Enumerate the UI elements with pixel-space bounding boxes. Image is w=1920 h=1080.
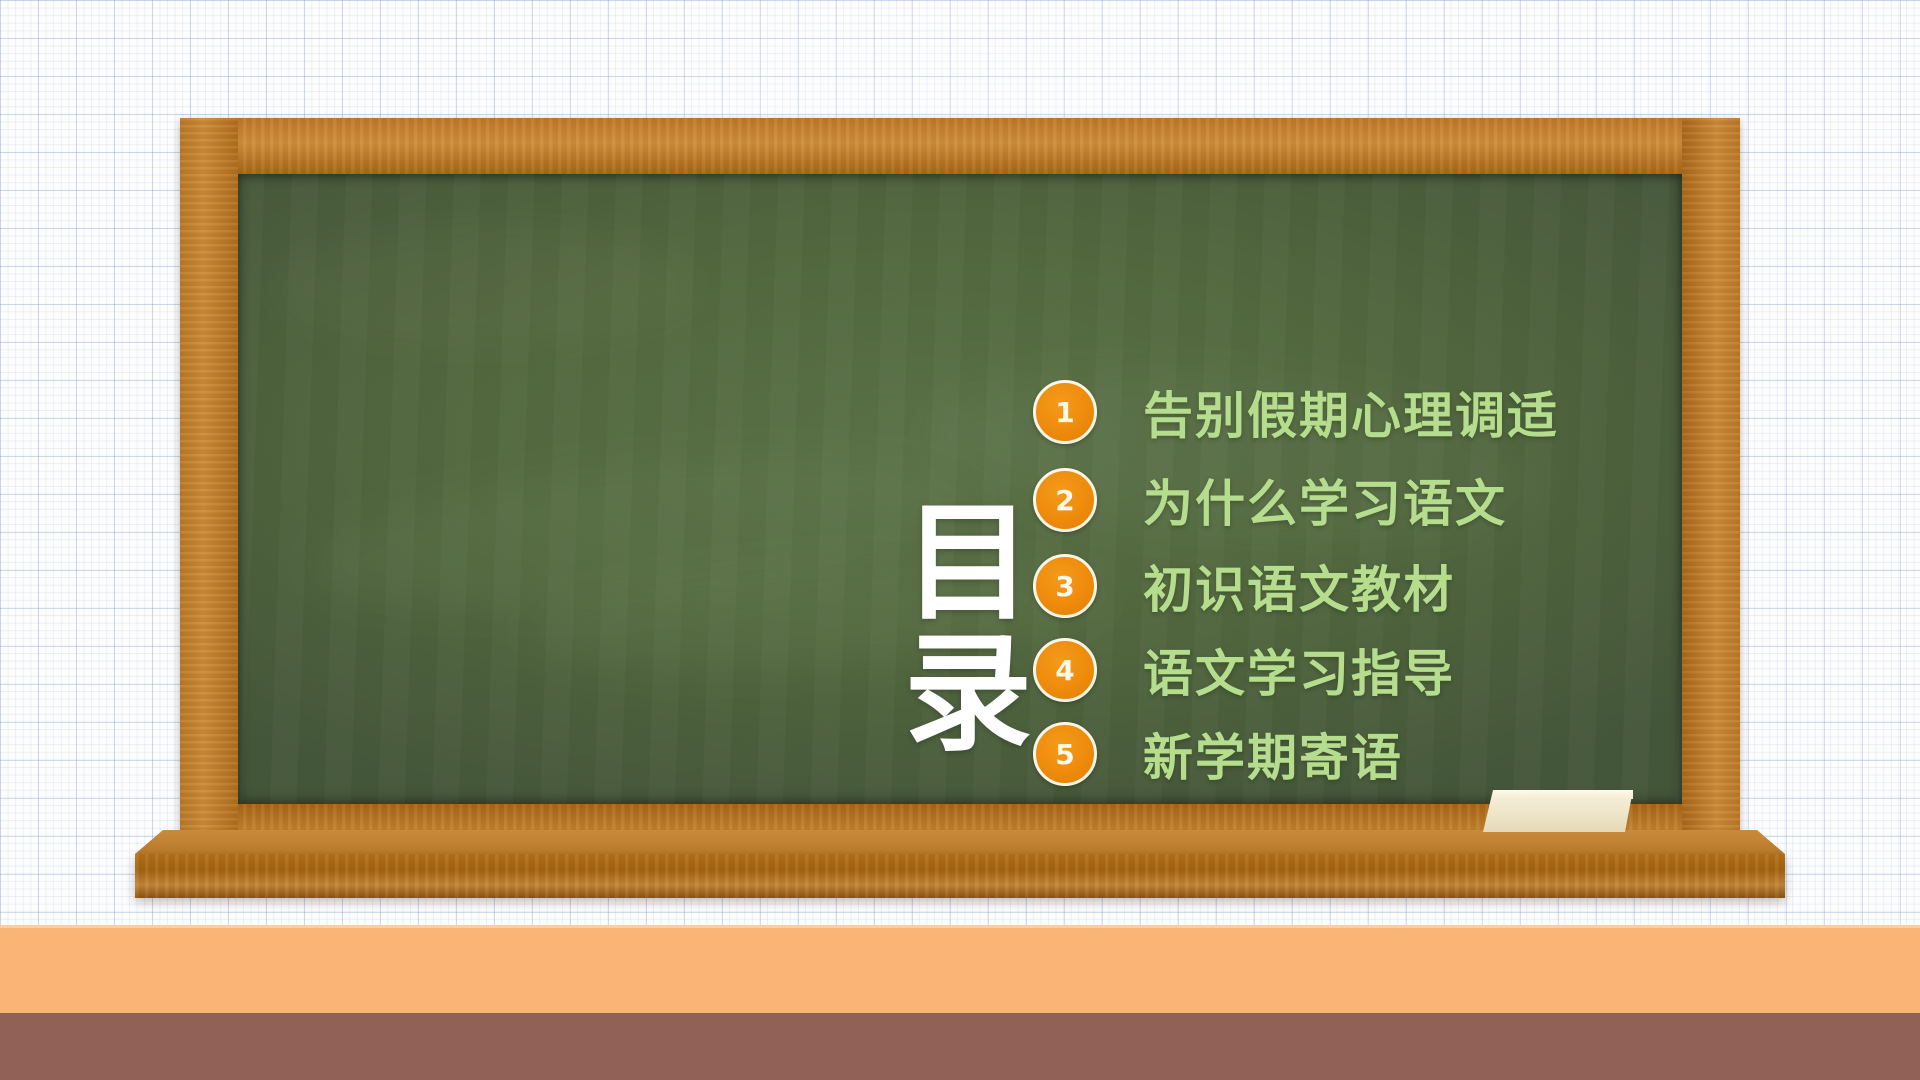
brown-footer-band [0, 1013, 1920, 1080]
toc-label-4: 语文学习指导 [1143, 634, 1455, 706]
board-content: 目 录 1 告别假期心理调适 2 为什么学习语文 3 初识语文教材 [238, 174, 1682, 804]
page-title-char-2: 录 [883, 630, 1053, 761]
toc-item-5[interactable]: 5 新学期寄语 [1033, 713, 1793, 795]
toc-label-5: 新学期寄语 [1143, 718, 1403, 790]
toc-item-1[interactable]: 1 告别假期心理调适 [1033, 369, 1793, 455]
chalk-eraser[interactable] [1483, 790, 1633, 832]
toc-item-2[interactable]: 2 为什么学习语文 [1033, 457, 1793, 543]
toc-label-3: 初识语文教材 [1143, 550, 1455, 622]
toc-number-badge-3: 3 [1033, 554, 1097, 618]
chalk-eraser-top [1493, 790, 1633, 799]
frame-stile-left [180, 118, 238, 848]
orange-footer-band [0, 925, 1920, 1013]
chalk-tray-top [135, 830, 1785, 854]
toc-number-badge-5: 5 [1033, 722, 1097, 786]
toc-label-1: 告别假期心理调适 [1143, 376, 1559, 448]
toc-list: 1 告别假期心理调适 2 为什么学习语文 3 初识语文教材 4 语文学习指导 5 [1033, 369, 1793, 797]
toc-number-badge-2: 2 [1033, 468, 1097, 532]
toc-number-badge-4: 4 [1033, 638, 1097, 702]
toc-number-badge-1: 1 [1033, 380, 1097, 444]
chalk-tray-front [135, 854, 1785, 898]
chalk-tray [135, 830, 1785, 898]
slide-root: 目 录 1 告别假期心理调适 2 为什么学习语文 3 初识语文教材 [0, 0, 1920, 1080]
page-title: 目 录 [883, 499, 1053, 760]
frame-rail-top [180, 118, 1740, 174]
toc-label-2: 为什么学习语文 [1143, 464, 1507, 536]
page-title-char-1: 目 [883, 499, 1053, 630]
toc-item-3[interactable]: 3 初识语文教材 [1033, 545, 1793, 627]
chalkboard: 目 录 1 告别假期心理调适 2 为什么学习语文 3 初识语文教材 [180, 118, 1740, 848]
toc-item-4[interactable]: 4 语文学习指导 [1033, 629, 1793, 711]
